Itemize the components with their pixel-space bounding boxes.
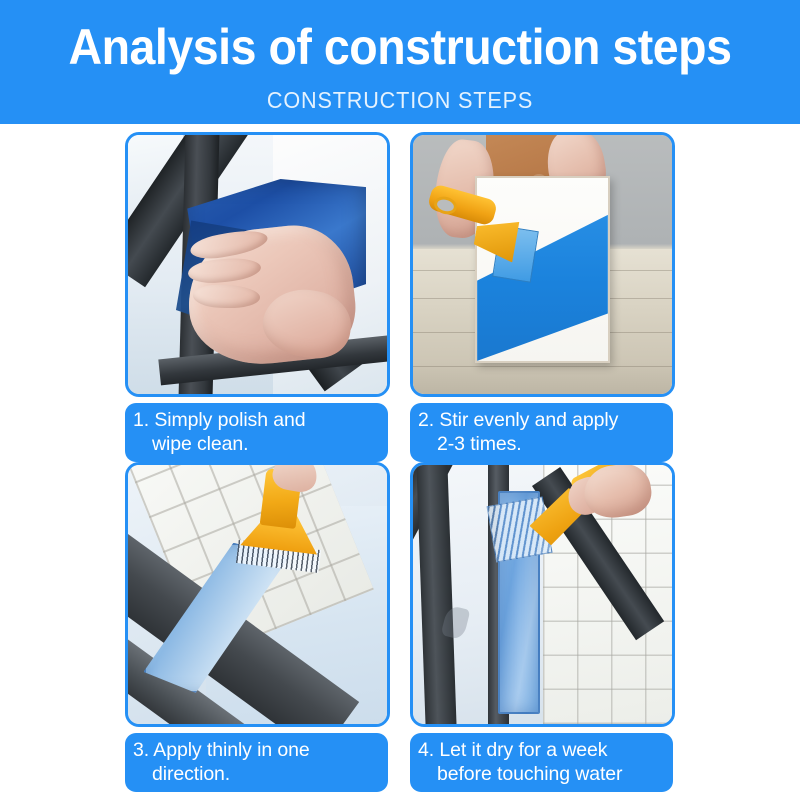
step-caption-line1: 3. Apply thinly in one <box>133 738 380 762</box>
step-card-3[interactable]: 3. Apply thinly in one direction. <box>125 462 390 792</box>
step-card-1[interactable]: 1. Simply polish and wipe clean. <box>125 132 390 462</box>
step-photo-frame-2 <box>410 132 675 397</box>
step-caption-line2: 2-3 times. <box>418 432 665 456</box>
step-caption-2: 2. Stir evenly and apply 2-3 times. <box>410 403 673 462</box>
step-caption-3: 3. Apply thinly in one direction. <box>125 733 388 792</box>
step-caption-line1: 1. Simply polish and <box>133 408 380 432</box>
step-caption-line2: wipe clean. <box>133 432 380 456</box>
step-photo-frame-4 <box>410 462 675 727</box>
step-caption-line2: before touching water <box>418 762 665 786</box>
header-banner: Analysis of construction steps CONSTRUCT… <box>0 0 800 124</box>
step-caption-1: 1. Simply polish and wipe clean. <box>125 403 388 462</box>
construction-steps-infographic: Analysis of construction steps CONSTRUCT… <box>0 0 800 800</box>
step-card-4[interactable]: 4. Let it dry for a week before touching… <box>410 462 675 792</box>
steps-grid: 1. Simply polish and wipe clean. <box>0 124 800 800</box>
step-caption-line1: 4. Let it dry for a week <box>418 738 665 762</box>
step-photo-3 <box>128 465 387 724</box>
step-caption-4: 4. Let it dry for a week before touching… <box>410 733 673 792</box>
step-photo-frame-1 <box>125 132 390 397</box>
page-subtitle: CONSTRUCTION STEPS <box>24 86 776 114</box>
step-card-2[interactable]: 2. Stir evenly and apply 2-3 times. <box>410 132 675 462</box>
step-caption-line1: 2. Stir evenly and apply <box>418 408 665 432</box>
page-title: Analysis of construction steps <box>28 18 772 76</box>
step-caption-line2: direction. <box>133 762 380 786</box>
step-photo-2 <box>413 135 672 394</box>
step-photo-frame-3 <box>125 462 390 727</box>
step-photo-1 <box>128 135 387 394</box>
step-photo-4 <box>413 465 672 724</box>
